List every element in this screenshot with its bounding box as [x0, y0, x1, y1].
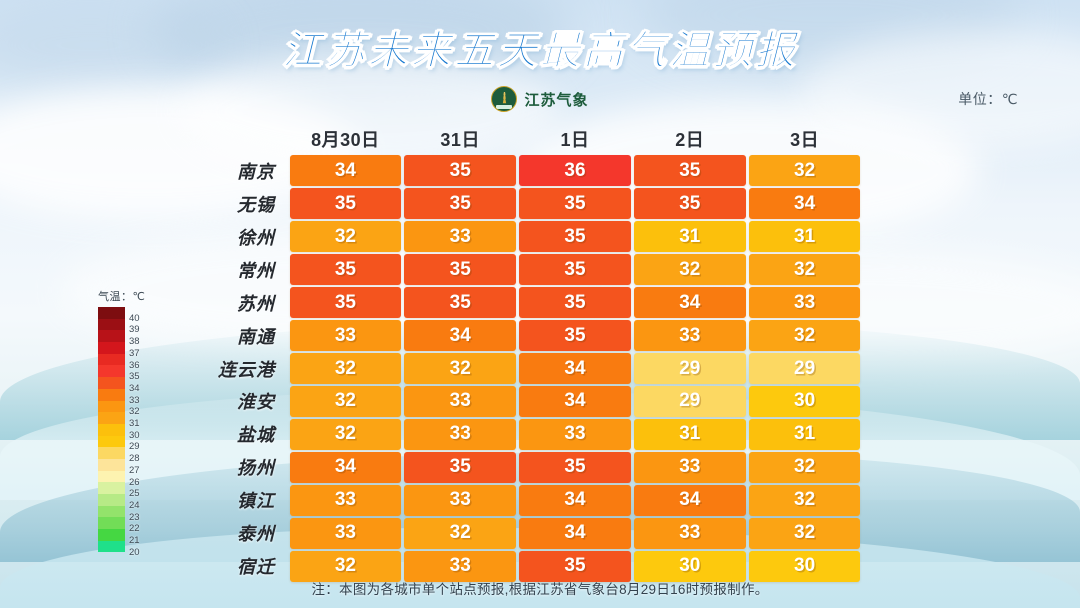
- temperature-cell-wrap: 29: [632, 386, 747, 417]
- legend-tick: 37: [129, 349, 140, 359]
- table-row: 泰州3332343332: [196, 518, 862, 549]
- temperature-cell-wrap: 33: [288, 485, 403, 516]
- temperature-cell-wrap: 32: [747, 485, 862, 516]
- table-header-row: 8月30日31日1日2日3日: [196, 122, 862, 155]
- temperature-cell-wrap: 33: [747, 287, 862, 318]
- temperature-cell: 35: [519, 221, 631, 252]
- temperature-cell-wrap: 31: [747, 419, 862, 450]
- temperature-cell-wrap: 35: [518, 287, 633, 318]
- temperature-cell: 32: [404, 518, 516, 549]
- temperature-cell: 33: [404, 221, 516, 252]
- legend-swatch: [98, 354, 125, 366]
- temperature-cell-wrap: 32: [747, 320, 862, 351]
- temperature-cell: 29: [749, 353, 861, 384]
- legend-swatch: [98, 482, 125, 494]
- temperature-cell: 33: [634, 452, 746, 483]
- table-row: 连云港3232342929: [196, 353, 862, 384]
- temperature-cell-wrap: 29: [632, 353, 747, 384]
- table-row: 扬州3435353332: [196, 452, 862, 483]
- temperature-cell: 33: [290, 320, 402, 351]
- temperature-cell-wrap: 35: [632, 188, 747, 219]
- temperature-cell: 34: [749, 188, 861, 219]
- unit-label: 单位：℃: [958, 89, 1018, 109]
- temperature-cell-wrap: 34: [632, 287, 747, 318]
- table-row: 南通3334353332: [196, 320, 862, 351]
- temperature-cell-wrap: 32: [747, 155, 862, 186]
- legend-swatch: [98, 447, 125, 459]
- table-row: 淮安3233342930: [196, 386, 862, 417]
- temperature-cell: 35: [404, 188, 516, 219]
- legend-tick: 31: [129, 419, 140, 429]
- temperature-cell: 32: [749, 320, 861, 351]
- table-row: 南京3435363532: [196, 155, 862, 186]
- temperature-cell: 32: [290, 419, 402, 450]
- temperature-cell: 33: [404, 485, 516, 516]
- temperature-cell-wrap: 35: [288, 287, 403, 318]
- temperature-cell: 35: [519, 452, 631, 483]
- legend-tick: 23: [129, 513, 140, 523]
- temperature-cell-wrap: 34: [518, 386, 633, 417]
- legend-tick-labels: 4039383736353433323130292827262524232221…: [125, 307, 159, 552]
- temperature-cell-wrap: 35: [518, 221, 633, 252]
- temperature-cell: 35: [519, 287, 631, 318]
- temperature-cell: 34: [404, 320, 516, 351]
- column-header-3: 2日: [632, 126, 747, 152]
- temperature-cell: 35: [404, 452, 516, 483]
- temperature-cell: 31: [749, 419, 861, 450]
- temperature-cell-wrap: 35: [288, 188, 403, 219]
- temperature-cell: 35: [634, 155, 746, 186]
- temperature-cell-wrap: 34: [518, 518, 633, 549]
- temperature-cell-wrap: 33: [518, 419, 633, 450]
- temperature-cell: 33: [634, 518, 746, 549]
- temperature-cell-wrap: 35: [288, 254, 403, 285]
- city-label: 常州: [196, 257, 288, 283]
- legend-swatch: [98, 529, 125, 541]
- table-row: 无锡3535353534: [196, 188, 862, 219]
- temperature-cell-wrap: 35: [403, 254, 518, 285]
- temperature-cell-wrap: 34: [632, 485, 747, 516]
- temperature-cell-wrap: 31: [747, 221, 862, 252]
- city-label: 镇江: [196, 487, 288, 513]
- legend-tick: 29: [129, 442, 140, 452]
- brand-line: 江苏气象: [0, 86, 1080, 112]
- legend-swatch: [98, 412, 125, 424]
- temperature-cell: 29: [634, 353, 746, 384]
- city-label: 盐城: [196, 421, 288, 447]
- temperature-cell: 33: [634, 320, 746, 351]
- temperature-cell-wrap: 34: [288, 452, 403, 483]
- temperature-cell: 33: [404, 386, 516, 417]
- legend-swatch: [98, 517, 125, 529]
- temperature-cell: 31: [634, 419, 746, 450]
- temperature-cell: 32: [404, 353, 516, 384]
- legend-tick: 21: [129, 536, 140, 546]
- legend-tick: 26: [129, 478, 140, 488]
- table-row: 镇江3333343432: [196, 485, 862, 516]
- legend-tick: 34: [129, 384, 140, 394]
- temperature-cell: 32: [749, 518, 861, 549]
- temperature-cell-wrap: 33: [632, 452, 747, 483]
- temperature-cell-wrap: 33: [288, 320, 403, 351]
- temperature-cell-wrap: 35: [403, 188, 518, 219]
- table-body: 南京3435363532无锡3535353534徐州3233353131常州35…: [196, 155, 862, 582]
- temperature-cell: 35: [634, 188, 746, 219]
- temperature-cell: 35: [519, 320, 631, 351]
- temperature-cell-wrap: 32: [747, 254, 862, 285]
- city-label: 泰州: [196, 520, 288, 546]
- temperature-cell-wrap: 35: [518, 452, 633, 483]
- temperature-cell: 29: [634, 386, 746, 417]
- temperature-cell-wrap: 34: [518, 353, 633, 384]
- legend-swatch: [98, 471, 125, 483]
- temperature-cell-wrap: 32: [747, 452, 862, 483]
- temperature-cell: 34: [290, 452, 402, 483]
- legend-swatch: [98, 365, 125, 377]
- temperature-cell-wrap: 32: [288, 353, 403, 384]
- city-label: 无锡: [196, 191, 288, 217]
- legend-tick: 22: [129, 524, 140, 534]
- temperature-cell-wrap: 33: [403, 419, 518, 450]
- temperature-cell: 31: [749, 221, 861, 252]
- table-row: 苏州3535353433: [196, 287, 862, 318]
- temperature-cell-wrap: 31: [632, 419, 747, 450]
- temperature-cell: 35: [404, 155, 516, 186]
- city-label: 宿迁: [196, 553, 288, 579]
- temperature-cell-wrap: 34: [288, 155, 403, 186]
- legend-swatch: [98, 377, 125, 389]
- temperature-cell-wrap: 33: [632, 320, 747, 351]
- legend-swatch: [98, 330, 125, 342]
- temperature-cell-wrap: 34: [747, 188, 862, 219]
- temperature-cell-wrap: 33: [632, 518, 747, 549]
- legend-tick: 35: [129, 372, 140, 382]
- column-header-2: 1日: [518, 126, 633, 152]
- temperature-cell: 35: [519, 188, 631, 219]
- temperature-cell: 32: [634, 254, 746, 285]
- temperature-cell: 32: [749, 452, 861, 483]
- temperature-cell-wrap: 35: [518, 320, 633, 351]
- temperature-cell: 31: [634, 221, 746, 252]
- temperature-cell: 34: [519, 386, 631, 417]
- legend-swatch: [98, 506, 125, 518]
- temperature-legend: 气温：℃ 40393837363534333231302928272625242…: [98, 288, 178, 552]
- temperature-cell-wrap: 33: [403, 221, 518, 252]
- temperature-cell: 35: [519, 254, 631, 285]
- temperature-cell: 33: [749, 287, 861, 318]
- temperature-cell-wrap: 32: [288, 221, 403, 252]
- city-label: 淮安: [196, 388, 288, 414]
- temperature-cell-wrap: 34: [518, 485, 633, 516]
- temperature-cell-wrap: 32: [747, 518, 862, 549]
- temperature-cell: 35: [404, 287, 516, 318]
- temperature-cell-wrap: 35: [518, 188, 633, 219]
- legend-tick: 27: [129, 466, 140, 476]
- city-label: 连云港: [196, 356, 288, 382]
- column-header-0: 8月30日: [288, 126, 403, 152]
- legend-color-bar: [98, 307, 125, 552]
- city-label: 徐州: [196, 224, 288, 250]
- temperature-cell: 32: [749, 254, 861, 285]
- temperature-cell-wrap: 31: [632, 221, 747, 252]
- temperature-cell-wrap: 32: [288, 386, 403, 417]
- column-header-1: 31日: [403, 126, 518, 152]
- page-title: 江苏未来五天最高气温预报: [0, 18, 1080, 76]
- temperature-cell-wrap: 29: [747, 353, 862, 384]
- legend-tick: 36: [129, 361, 140, 371]
- legend-tick: 40: [129, 314, 140, 324]
- legend-tick: 32: [129, 407, 140, 417]
- legend-swatch: [98, 342, 125, 354]
- legend-tick: 24: [129, 501, 140, 511]
- temperature-cell: 34: [290, 155, 402, 186]
- legend-tick: 39: [129, 325, 140, 335]
- temperature-cell-wrap: 35: [403, 452, 518, 483]
- temperature-cell-wrap: 33: [403, 485, 518, 516]
- legend-swatch: [98, 319, 125, 331]
- temperature-cell: 33: [519, 419, 631, 450]
- table-row: 常州3535353232: [196, 254, 862, 285]
- legend-swatch: [98, 389, 125, 401]
- temperature-cell: 35: [290, 287, 402, 318]
- temperature-cell-wrap: 34: [403, 320, 518, 351]
- legend-tick: 28: [129, 454, 140, 464]
- temperature-cell: 35: [404, 254, 516, 285]
- temperature-cell: 34: [519, 485, 631, 516]
- temperature-cell: 30: [749, 386, 861, 417]
- temperature-cell: 32: [749, 485, 861, 516]
- temperature-cell-wrap: 35: [403, 287, 518, 318]
- legend-tick: 20: [129, 548, 140, 558]
- temperature-cell-wrap: 35: [518, 254, 633, 285]
- legend-swatch: [98, 459, 125, 471]
- temperature-cell: 34: [519, 518, 631, 549]
- temperature-cell: 34: [634, 287, 746, 318]
- forecast-table: 8月30日31日1日2日3日 南京3435363532无锡3535353534徐…: [196, 122, 862, 584]
- city-label: 南京: [196, 158, 288, 184]
- temperature-cell: 32: [290, 221, 402, 252]
- weather-bureau-emblem-icon: [491, 86, 517, 112]
- city-label: 扬州: [196, 454, 288, 480]
- city-label: 南通: [196, 323, 288, 349]
- legend-title: 气温：℃: [98, 288, 178, 304]
- temperature-cell-wrap: 32: [632, 254, 747, 285]
- legend-tick: 30: [129, 431, 140, 441]
- temperature-cell: 32: [290, 386, 402, 417]
- legend-tick: 38: [129, 337, 140, 347]
- temperature-cell: 36: [519, 155, 631, 186]
- legend-swatch: [98, 424, 125, 436]
- legend-swatch: [98, 307, 125, 319]
- table-row: 盐城3233333131: [196, 419, 862, 450]
- temperature-cell-wrap: 32: [288, 419, 403, 450]
- temperature-cell-wrap: 35: [632, 155, 747, 186]
- temperature-cell: 34: [634, 485, 746, 516]
- legend-tick: 33: [129, 396, 140, 406]
- temperature-cell-wrap: 32: [403, 353, 518, 384]
- temperature-cell: 32: [749, 155, 861, 186]
- temperature-cell-wrap: 32: [403, 518, 518, 549]
- temperature-cell-wrap: 30: [747, 386, 862, 417]
- legend-swatch: [98, 541, 125, 553]
- temperature-cell-wrap: 35: [403, 155, 518, 186]
- temperature-cell: 35: [290, 254, 402, 285]
- temperature-cell: 33: [404, 419, 516, 450]
- temperature-cell: 34: [519, 353, 631, 384]
- temperature-cell-wrap: 33: [403, 386, 518, 417]
- legend-tick: 25: [129, 489, 140, 499]
- logo-label: 江苏气象: [524, 89, 588, 110]
- temperature-cell-wrap: 33: [288, 518, 403, 549]
- legend-swatch: [98, 401, 125, 413]
- footnote: 注：本图为各城市单个站点预报,根据江苏省气象台8月29日16时预报制作。: [0, 578, 1080, 598]
- temperature-cell: 33: [290, 485, 402, 516]
- table-row: 徐州3233353131: [196, 221, 862, 252]
- city-label: 苏州: [196, 290, 288, 316]
- temperature-cell: 32: [290, 353, 402, 384]
- legend-swatch: [98, 436, 125, 448]
- legend-swatch: [98, 494, 125, 506]
- temperature-cell-wrap: 36: [518, 155, 633, 186]
- column-header-4: 3日: [747, 126, 862, 152]
- temperature-cell: 35: [290, 188, 402, 219]
- temperature-cell: 33: [290, 518, 402, 549]
